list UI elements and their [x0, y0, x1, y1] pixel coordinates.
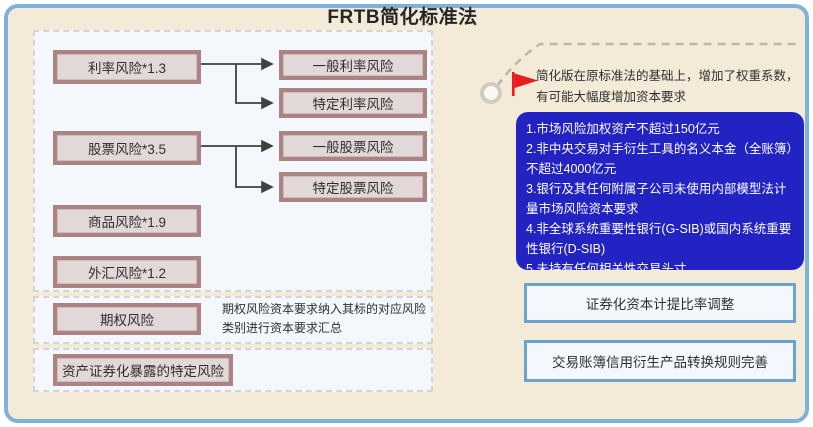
sub-risk-box-specific-equity[interactable]: 特定股票风险	[279, 172, 427, 202]
risk-box-interest-rate[interactable]: 利率风险*1.3	[53, 50, 201, 84]
leader-line-endpoint-circle	[480, 82, 502, 104]
risk-box-equity[interactable]: 股票风险*3.5	[53, 131, 201, 165]
red-flag-icon	[512, 72, 538, 96]
risk-box-securitization-specific[interactable]: 资产证券化暴露的特定风险	[53, 354, 233, 386]
risk-box-fx[interactable]: 外汇风险*1.2	[53, 256, 201, 288]
page-title: FRTB简化标准法	[0, 6, 805, 30]
option-risk-note: 期权风险资本要求纳入其标的对应风险类别进行资本要求汇总	[222, 300, 430, 338]
sub-risk-box-specific-interest-rate[interactable]: 特定利率风险	[279, 88, 427, 118]
callout-text: 简化版在原标准法的基础上，增加了权重系数，有可能大幅度增加资本要求	[536, 66, 802, 108]
sub-risk-box-general-equity[interactable]: 一般股票风险	[279, 131, 427, 161]
risk-box-commodity[interactable]: 商品风险*1.9	[53, 205, 201, 237]
box-trading-book-credit-derivative[interactable]: 交易账簿信用衍生产品转换规则完善	[524, 340, 796, 382]
diagram-root: FRTB简化标准法 利率风险*1.3 股票风险*3.5 商品风险*1.9 外汇风…	[0, 0, 813, 427]
box-securitization-capital-ratio[interactable]: 证券化资本计提比率调整	[524, 283, 796, 323]
criteria-panel: 1.市场风险加权资产不超过150亿元 2.非中央交易对手衍生工具的名义本金（全账…	[516, 112, 804, 270]
sub-risk-box-general-interest-rate[interactable]: 一般利率风险	[279, 50, 427, 80]
risk-box-option[interactable]: 期权风险	[53, 303, 201, 335]
